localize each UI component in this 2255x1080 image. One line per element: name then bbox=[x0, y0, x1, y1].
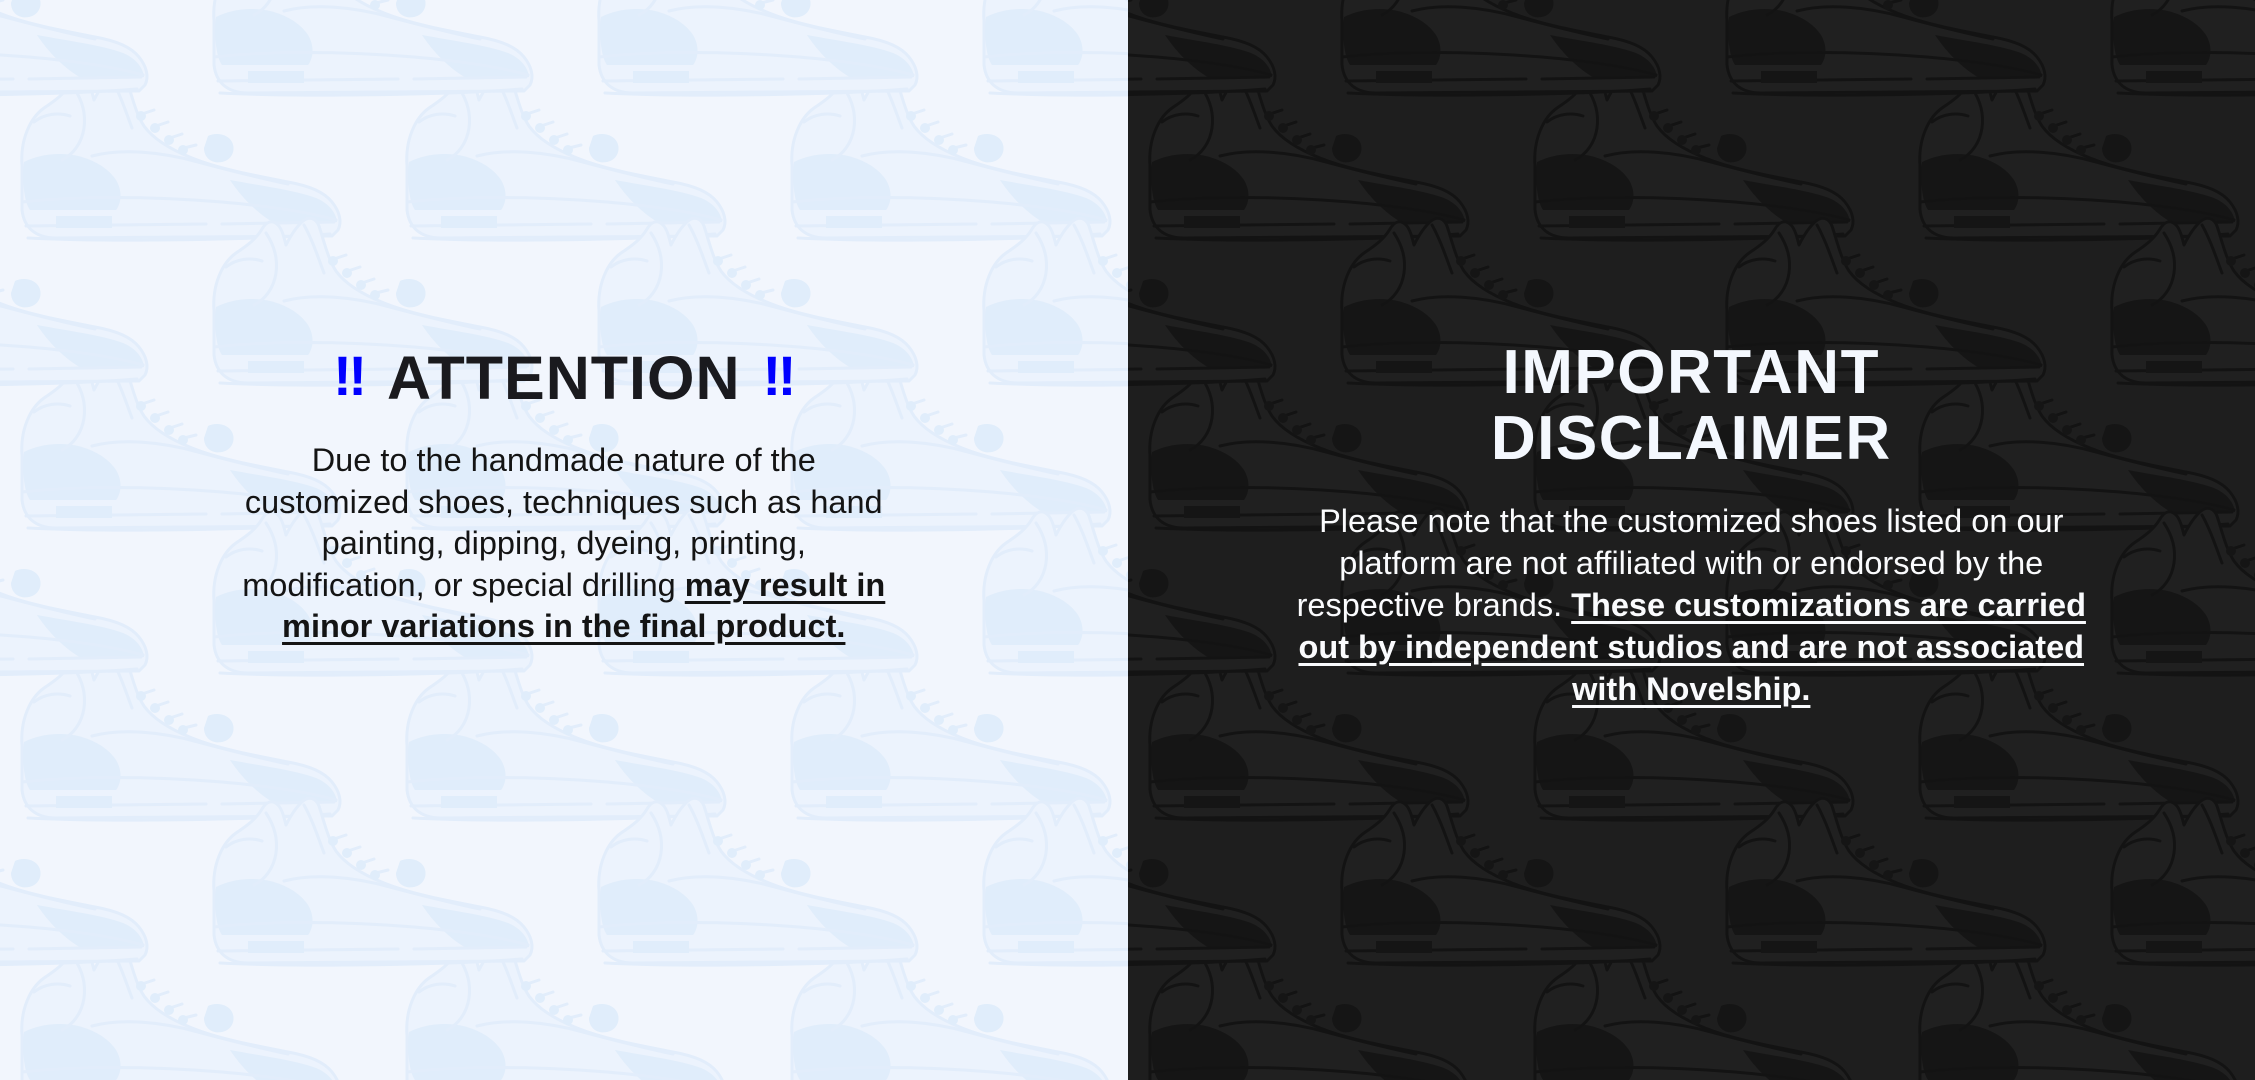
attention-content: ‼ ATTENTION ‼ Due to the handmade nature… bbox=[0, 346, 1128, 648]
disclaimer-heading-line1: IMPORTANT bbox=[1503, 338, 1880, 407]
attention-panel: ‼ ATTENTION ‼ Due to the handmade nature… bbox=[0, 0, 1128, 1080]
disclaimer-heading: IMPORTANT DISCLAIMER bbox=[1311, 340, 2071, 471]
disclaimer-body: Please note that the customized shoes li… bbox=[1286, 501, 2096, 711]
disclaimer-panel: IMPORTANT DISCLAIMER Please note that th… bbox=[1128, 0, 2255, 1080]
double-exclamation-left-icon: ‼ bbox=[333, 348, 365, 404]
disclaimer-content: IMPORTANT DISCLAIMER Please note that th… bbox=[1128, 340, 2255, 711]
attention-heading: ‼ ATTENTION ‼ bbox=[333, 346, 794, 410]
disclaimer-banner: ‼ ATTENTION ‼ Due to the handmade nature… bbox=[0, 0, 2255, 1080]
attention-heading-text: ATTENTION bbox=[387, 346, 741, 410]
disclaimer-heading-line2: DISCLAIMER bbox=[1491, 404, 1892, 473]
double-exclamation-right-icon: ‼ bbox=[763, 348, 795, 404]
attention-body: Due to the handmade nature of the custom… bbox=[234, 440, 894, 648]
